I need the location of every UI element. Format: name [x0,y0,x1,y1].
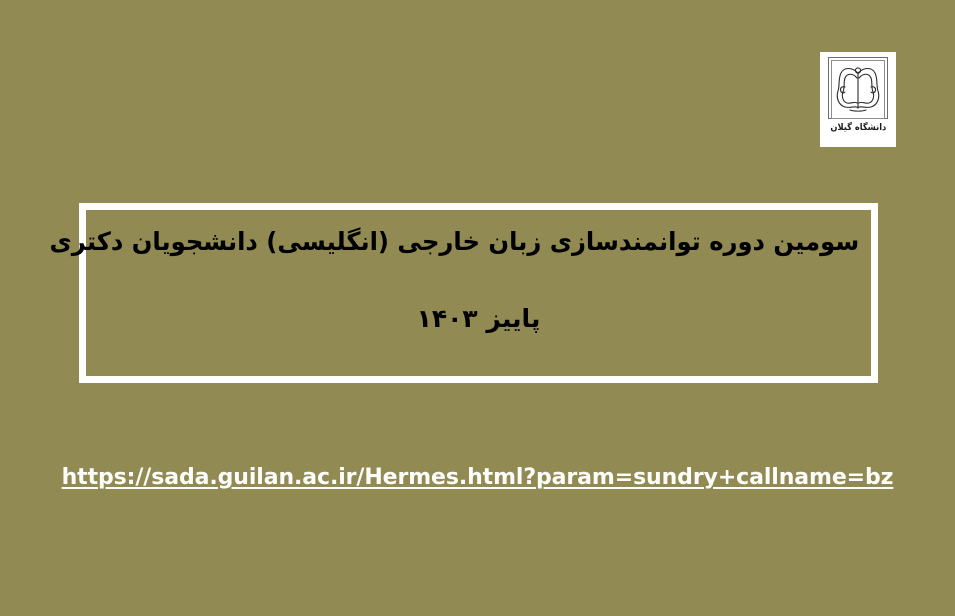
headline-frame: سومین دوره توانمندسازی زبان خارجی (انگلی… [79,203,878,383]
university-logo: دانشگاه گیلان [820,52,896,147]
ornamental-symmetric-emblem-icon [832,61,884,117]
poster-canvas: دانشگاه گیلان سومین دوره توانمندسازی زبا… [0,0,955,616]
headline-frame-inner: سومین دوره توانمندسازی زبان خارجی (انگلی… [86,210,871,376]
headline-title: سومین دوره توانمندسازی زبان خارجی (انگلی… [98,224,859,260]
link-row: https://sada.guilan.ac.ir/Hermes.html?pa… [0,465,955,490]
headline-term: پاییز ۱۴۰۳ [86,301,871,337]
logo-caption: دانشگاه گیلان [830,123,886,134]
logo-emblem-frame [828,57,888,119]
registration-link[interactable]: https://sada.guilan.ac.ir/Hermes.html?pa… [62,465,894,490]
